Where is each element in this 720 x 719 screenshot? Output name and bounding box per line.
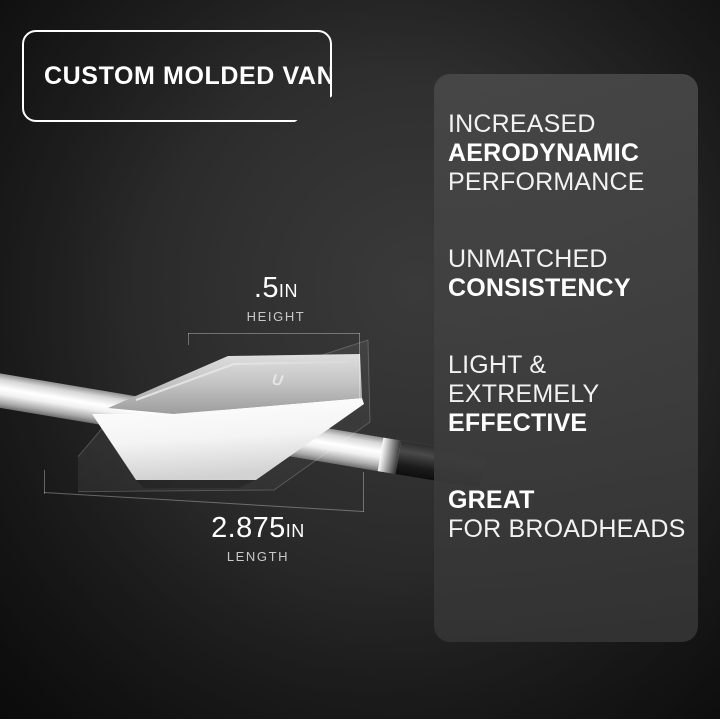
feature-line: GREAT: [448, 486, 698, 515]
feature-item: LIGHT & EXTREMELY EFFECTIVE: [448, 351, 698, 438]
feature-line: INCREASED: [448, 110, 698, 139]
feature-line: UNMATCHED: [448, 245, 698, 274]
height-unit: IN: [279, 281, 298, 301]
length-dimension-label: 2.875IN LENGTH: [158, 512, 358, 564]
feature-panel: INCREASED AERODYNAMIC PERFORMANCE UNMATC…: [434, 74, 698, 642]
length-unit: IN: [286, 521, 305, 541]
vane-base-shadow: [136, 480, 256, 488]
length-guide-left-tick: [44, 470, 45, 494]
height-caption: HEIGHT: [206, 309, 346, 324]
feature-line: PERFORMANCE: [448, 168, 698, 197]
length-caption: LENGTH: [158, 549, 358, 564]
feature-line: LIGHT &: [448, 351, 698, 380]
feature-line: EXTREMELY: [448, 380, 698, 409]
height-value: .5IN: [206, 272, 346, 305]
feature-line: CONSISTENCY: [448, 274, 698, 303]
feature-line: FOR BROADHEADS: [448, 515, 698, 544]
length-guide-right-tick: [363, 472, 364, 512]
page-title: CUSTOM MOLDED VANES: [24, 62, 370, 91]
feature-item: INCREASED AERODYNAMIC PERFORMANCE: [448, 110, 698, 197]
height-dimension-label: .5IN HEIGHT: [206, 272, 346, 324]
height-guide-left-tick: [188, 333, 189, 345]
title-badge: CUSTOM MOLDED VANES: [22, 30, 332, 122]
height-guide-line: [188, 333, 360, 334]
product-feature-graphic: U .5IN HEIGHT 2.875IN LENGTH CUSTOM MOLD…: [0, 0, 720, 719]
feature-item: GREAT FOR BROADHEADS: [448, 486, 698, 544]
feature-item: UNMATCHED CONSISTENCY: [448, 245, 698, 303]
length-value: 2.875IN: [158, 512, 358, 545]
feature-line: EFFECTIVE: [448, 409, 698, 438]
height-guide-right-tick: [359, 333, 360, 399]
feature-line: AERODYNAMIC: [448, 139, 698, 168]
